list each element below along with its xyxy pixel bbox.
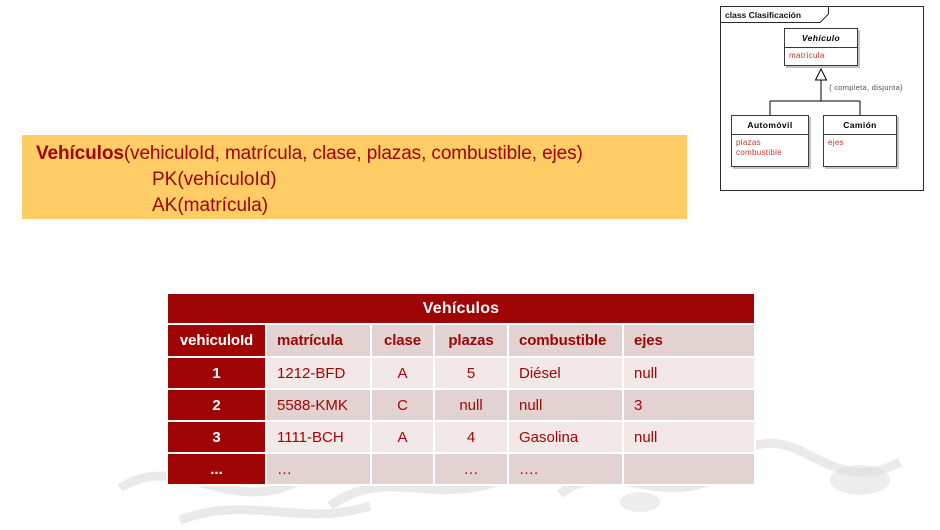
uml-frame-tab: class Clasificación (720, 6, 815, 22)
table-cell-matrícula: 1111-BCH (266, 421, 371, 453)
uml-class-camion[interactable]: Camión ejes (823, 115, 897, 167)
uml-class-camion-attributes: ejes (824, 135, 896, 152)
table-cell-matrícula: 5588-KMK (266, 389, 371, 421)
schema-relation-name: Vehículos (36, 143, 124, 164)
uml-frame-tab-shape (721, 7, 829, 23)
uml-class-automovil-attributes: plazas combustible (732, 135, 808, 162)
schema-attribute-list: (vehiculoId, matrícula, clase, plazas, c… (124, 143, 583, 164)
uml-class-automovil-name: Automóvil (732, 116, 808, 135)
uml-attribute: ejes (828, 138, 892, 148)
column-header-clase[interactable]: clase (371, 324, 434, 357)
uml-class-vehiculo-name: Vehículo (785, 29, 857, 48)
column-header-plazas[interactable]: plazas (434, 324, 508, 357)
column-header-vehiculoid[interactable]: vehiculoId (167, 324, 266, 357)
table-cell-ejes: null (623, 357, 755, 389)
column-header-ejes[interactable]: ejes (623, 324, 755, 357)
table-title: Vehículos (167, 293, 755, 324)
uml-class-vehiculo[interactable]: Vehículo matrícula (784, 28, 858, 66)
table-cell-ejes (623, 453, 755, 485)
uml-class-vehiculo-attributes: matrícula (785, 48, 857, 65)
table-cell-plazas: 4 (434, 421, 508, 453)
table-cell-clase: A (371, 357, 434, 389)
uml-class-diagram-frame: class Clasificación { completa, disjunta… (720, 6, 924, 191)
table-cell-plazas: null (434, 389, 508, 421)
uml-attribute: matrícula (789, 51, 853, 61)
uml-class-camion-name: Camión (824, 116, 896, 135)
table-cell-vehiculoid: 2 (167, 389, 266, 421)
uml-attribute: plazas (736, 138, 804, 148)
table-row: 11212-BFDA5Diéselnull (167, 357, 755, 389)
relational-schema-box: Vehículos(vehiculoId, matrícula, clase, … (22, 135, 687, 219)
table-body: 11212-BFDA5Diéselnull25588-KMKCnullnull3… (167, 357, 755, 485)
table-row: 25588-KMKCnullnull3 (167, 389, 755, 421)
table-cell-combustible: Gasolina (508, 421, 623, 453)
table-row: ...………. (167, 453, 755, 485)
uml-constraint-label: { completa, disjunta} (829, 83, 903, 92)
table-cell-matrícula: … (266, 453, 371, 485)
table-cell-clase: A (371, 421, 434, 453)
table-cell-plazas: 5 (434, 357, 508, 389)
schema-alternate-key: AK(matrícula) (152, 195, 268, 217)
table-cell-clase: C (371, 389, 434, 421)
table-cell-combustible: …. (508, 453, 623, 485)
column-header-combustible[interactable]: combustible (508, 324, 623, 357)
table-cell-combustible: Diésel (508, 357, 623, 389)
table-title-row: Vehículos (167, 293, 755, 324)
column-header-matrícula[interactable]: matrícula (266, 324, 371, 357)
table-header-row: vehiculoIdmatrículaclaseplazascombustibl… (167, 324, 755, 357)
table-cell-vehiculoid: 3 (167, 421, 266, 453)
schema-primary-key: PK(vehículoId) (152, 169, 277, 191)
uml-class-automovil[interactable]: Automóvil plazas combustible (731, 115, 809, 167)
table-cell-ejes: null (623, 421, 755, 453)
table-row: 31111-BCHA4Gasolinanull (167, 421, 755, 453)
table-cell-vehiculoid: 1 (167, 357, 266, 389)
table-cell-clase (371, 453, 434, 485)
vehiculos-data-table: Vehículos vehiculoIdmatrículaclaseplazas… (166, 292, 756, 486)
table-cell-matrícula: 1212-BFD (266, 357, 371, 389)
table-cell-plazas: … (434, 453, 508, 485)
table-cell-ejes: 3 (623, 389, 755, 421)
schema-relation-line: Vehículos(vehiculoId, matrícula, clase, … (36, 143, 583, 165)
uml-attribute: combustible (736, 148, 804, 158)
table-cell-combustible: null (508, 389, 623, 421)
table-cell-vehiculoid: ... (167, 453, 266, 485)
